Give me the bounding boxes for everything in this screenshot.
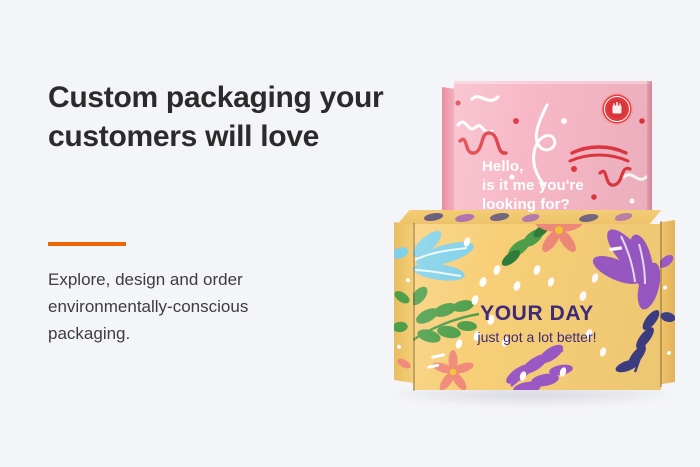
page-title: Custom packaging your customers will lov… [48,78,388,156]
yellow-box-front-face: YOUR DAY just got a lot better! [413,224,661,390]
yellow-box-message: YOUR DAY just got a lot better! [427,302,647,347]
yellow-box-right-face [660,220,675,384]
hero-banner: Custom packaging your customers will lov… [0,0,700,467]
yellow-right-pattern [660,220,675,384]
pink-box-right-edge [647,81,652,215]
pink-mailer-box: Hello, is it me you're looking for? [442,81,652,215]
seal-emblem [601,93,633,125]
sustainability-seal-icon [601,93,633,125]
yellow-box-subtitle: just got a lot better! [427,328,647,347]
product-photo: Hello, is it me you're looking for? [380,50,690,420]
yellow-box-left-face [394,222,414,383]
pink-box-top-edge [454,81,652,84]
copy-block: Custom packaging your customers will lov… [48,78,398,156]
pink-box-message: Hello, is it me you're looking for? [482,157,584,214]
yellow-mailer-box: YOUR DAY just got a lot better! [394,210,680,394]
pink-box-front-face: Hello, is it me you're looking for? [454,81,652,215]
accent-divider [48,242,126,246]
yellow-box-left-crease [413,223,415,391]
yellow-box-right-crease [660,221,662,387]
yellow-left-pattern [394,222,414,383]
yellow-box-title: YOUR DAY [427,302,647,326]
subheading-text: Explore, design and order environmentall… [48,266,308,347]
